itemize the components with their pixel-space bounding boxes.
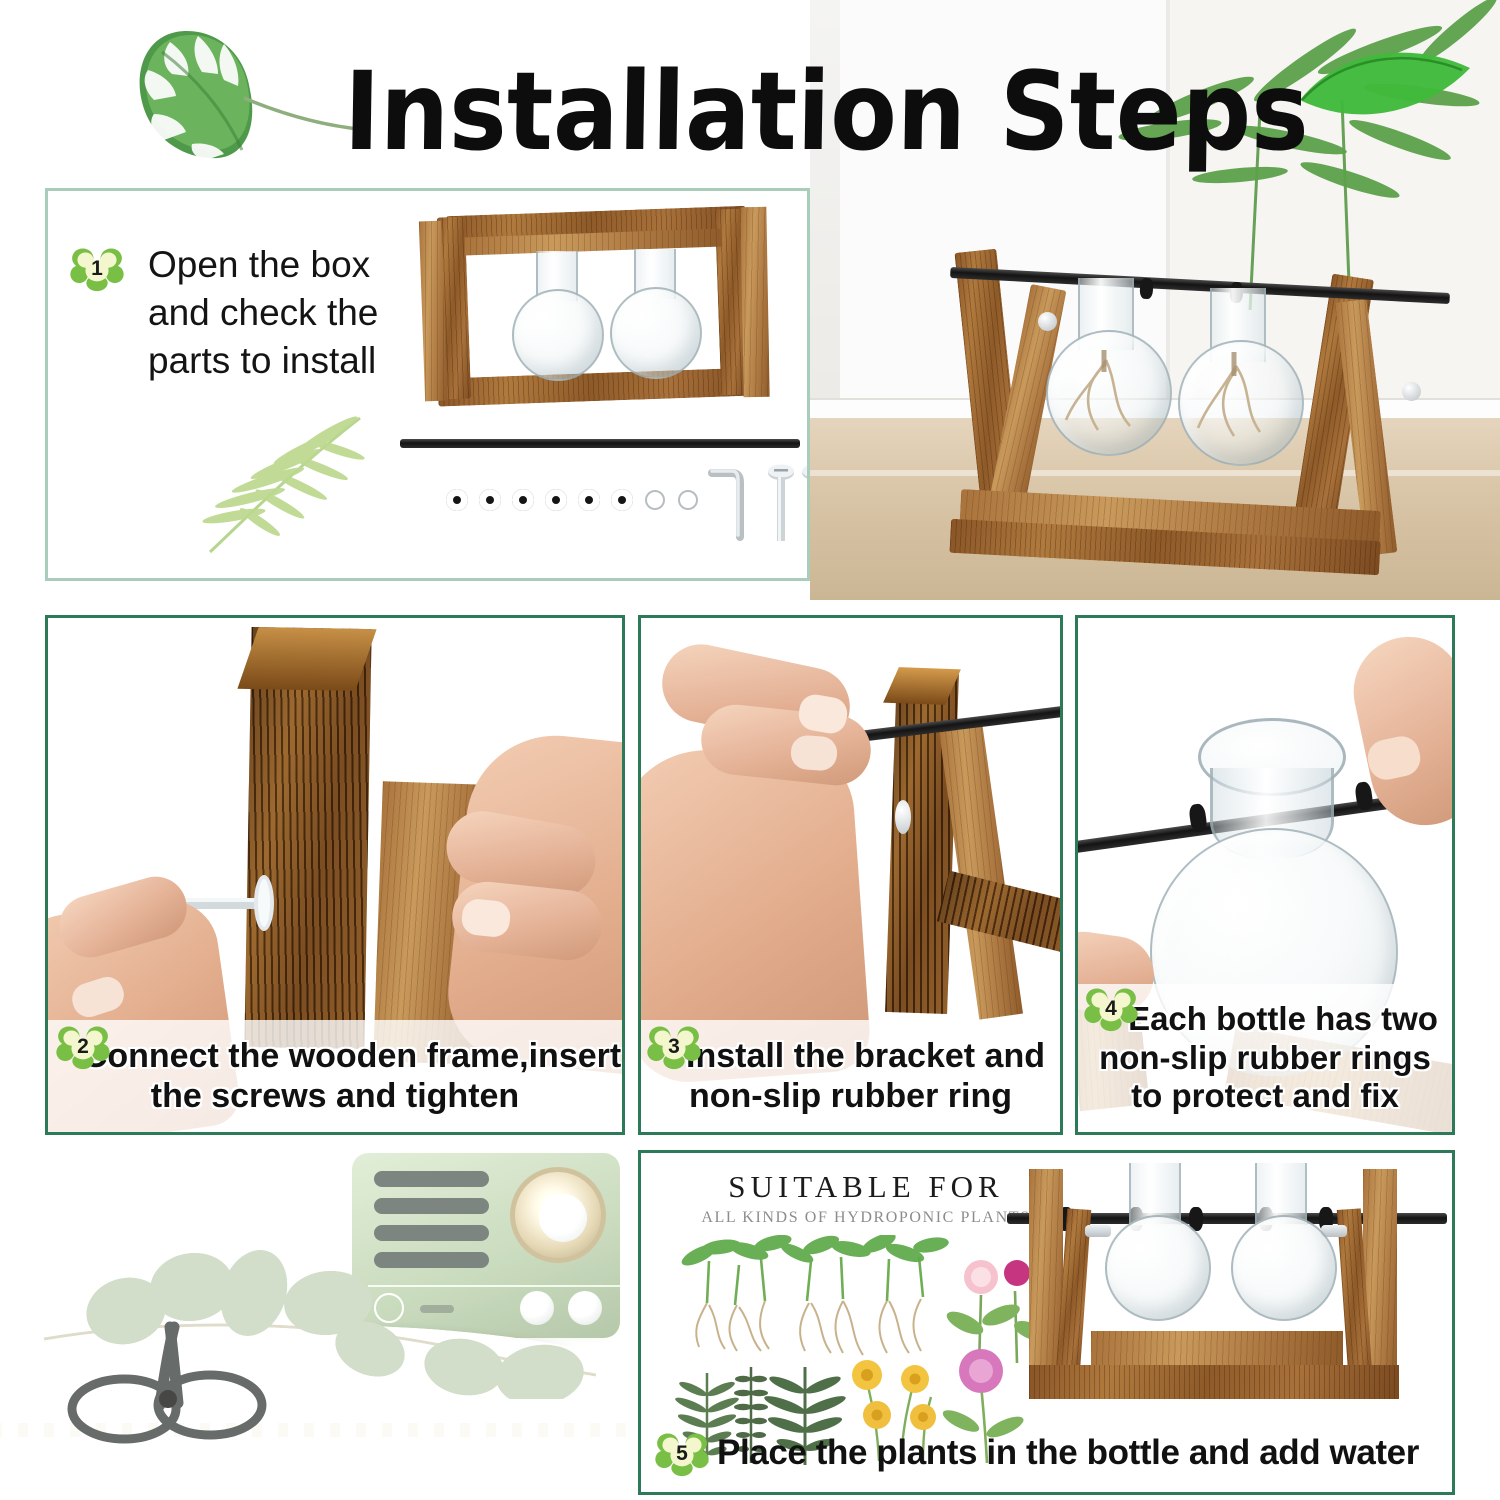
step5-line-1: Place the plants in the bottle and add w…: [717, 1433, 1419, 1473]
infographic-page: Installation Steps: [0, 0, 1500, 1500]
step1-line-2: and check the: [148, 289, 448, 337]
part-rubber-ring: [512, 489, 534, 511]
step1-line-1: Open the box: [148, 241, 448, 289]
part-washer: [645, 490, 665, 510]
step3-line-1: Install the bracket and: [656, 1036, 1045, 1076]
step-caption-1: Open the box and check the parts to inst…: [148, 241, 448, 385]
monstera-leaf-icon: [132, 18, 372, 178]
panel-step-1: 1 Open the box and check the parts to in…: [45, 188, 810, 581]
page-title: Installation Steps: [343, 48, 1310, 175]
panel-step-4: Each bottle has two non-slip rubber ring…: [1075, 615, 1455, 1135]
step-badge-3: 3: [647, 1022, 701, 1070]
part-rubber-ring: [611, 489, 633, 511]
step4-line-2: non-slip rubber rings: [1092, 1039, 1438, 1078]
part-rubber-ring: [446, 489, 468, 511]
step2-line-1: Connect the wooden frame,insert: [49, 1036, 621, 1076]
scissors: [62, 1313, 312, 1453]
part-metal-rod: [400, 439, 800, 448]
step4-line-3: to protect and fix: [1092, 1077, 1438, 1116]
step4-line-1: Each bottle has two: [1092, 1000, 1438, 1039]
suitable-for-title: SUITABLE FOR: [701, 1169, 1031, 1205]
part-hex-key: [706, 459, 748, 541]
product-stand-photo: [1001, 1163, 1451, 1413]
part-rubber-ring: [545, 489, 567, 511]
step-caption-3: Install the bracket and non-slip rubber …: [641, 1020, 1060, 1132]
part-rubber-ring: [578, 489, 600, 511]
step-number-3: 3: [647, 1022, 701, 1070]
step3-line-2: non-slip rubber ring: [656, 1076, 1045, 1116]
title-band: Installation Steps: [0, 0, 1500, 185]
step-badge-1: 1: [70, 244, 124, 292]
step-number-2: 2: [56, 1022, 110, 1070]
palm-sprig-icon: [188, 406, 378, 556]
suitable-for-subtitle: ALL KINDS OF HYDROPONIC PLANTS: [683, 1209, 1049, 1227]
lifestyle-photo: [0, 1145, 632, 1500]
panel-step-3: Install the bracket and non-slip rubber …: [638, 615, 1063, 1135]
step-number-1: 1: [70, 244, 124, 292]
panel-step-2: Connect the wooden frame,insert the scre…: [45, 615, 625, 1135]
step-badge-5: 5: [655, 1429, 709, 1477]
step2-line-2: the screws and tighten: [49, 1076, 621, 1116]
part-screw: [800, 463, 810, 547]
step-badge-4: 4: [1084, 984, 1138, 1032]
step1-line-3: parts to install: [148, 337, 448, 385]
part-rubber-ring: [479, 489, 501, 511]
part-screw: [766, 463, 796, 547]
step-caption-2: Connect the wooden frame,insert the scre…: [48, 1020, 622, 1132]
step-number-4: 4: [1084, 984, 1138, 1032]
step-badge-2: 2: [56, 1022, 110, 1070]
part-washer: [678, 490, 698, 510]
panel-step-5: SUITABLE FOR ALL KINDS OF HYDROPONIC PLA…: [638, 1150, 1455, 1495]
step-number-5: 5: [655, 1429, 709, 1477]
step-caption-5: 5 Place the plants in the bottle and add…: [641, 1418, 1452, 1488]
plant-roots: [1046, 350, 1306, 470]
parts-frame-photo: [418, 203, 788, 408]
